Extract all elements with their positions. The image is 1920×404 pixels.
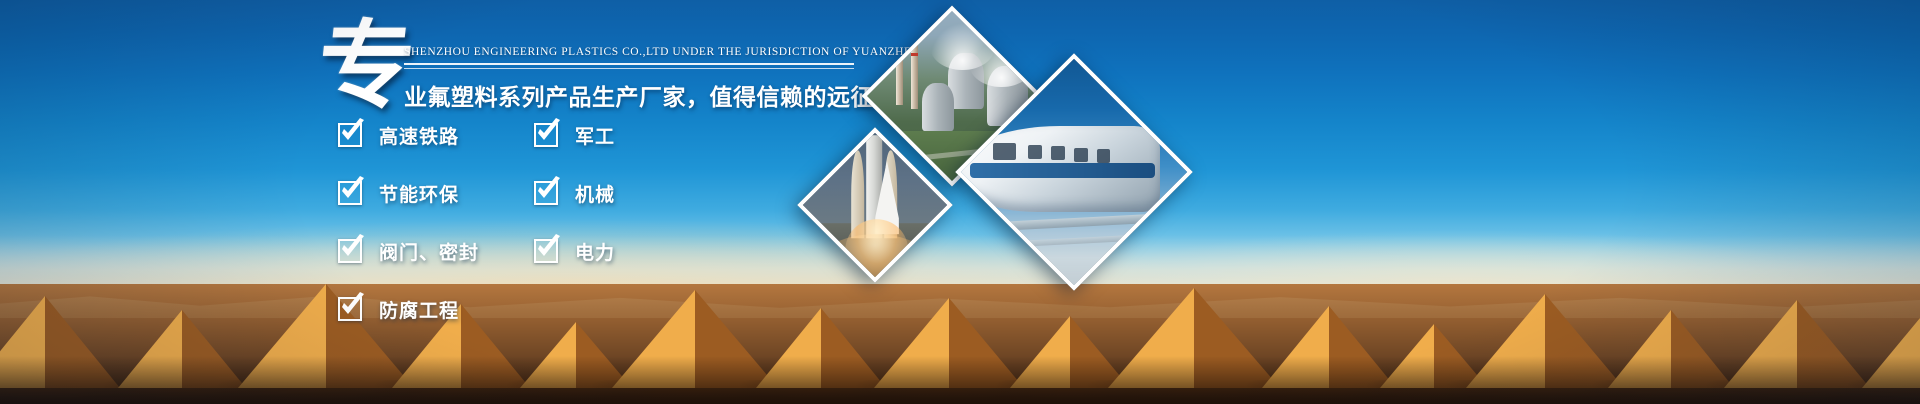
feature-item[interactable]: 阀门、密封	[338, 234, 534, 268]
passenger-window	[1028, 145, 1042, 159]
feature-item[interactable]: 节能环保	[338, 176, 534, 210]
photo-collage	[820, 10, 1240, 300]
passenger-window	[1051, 146, 1065, 160]
check-mark-icon	[337, 233, 367, 263]
divider-rules	[404, 63, 854, 69]
divider-line-thin	[404, 68, 854, 69]
feature-item-label: 阀门、密封	[379, 238, 479, 265]
english-tagline: SHENZHOU ENGINEERING PLASTICS CO.,LTD UN…	[404, 44, 884, 60]
headline-text-group: SHENZHOU ENGINEERING PLASTICS CO.,LTD UN…	[404, 44, 884, 112]
feature-item-label: 机械	[575, 180, 615, 207]
checkbox-checked-icon	[338, 181, 362, 205]
checkbox-checked-icon	[338, 123, 362, 147]
feature-item[interactable]: 军工	[534, 118, 714, 152]
divider-line-thick	[404, 63, 854, 65]
train-stripe	[970, 163, 1154, 177]
feature-item-label: 电力	[575, 238, 615, 265]
checkbox-checked-icon	[534, 123, 558, 147]
cab-window	[993, 143, 1016, 160]
checkbox-checked-icon	[534, 239, 558, 263]
feature-item-label: 高速铁路	[379, 122, 459, 149]
check-mark-icon	[337, 117, 367, 147]
checkbox-checked-icon	[534, 181, 558, 205]
feature-item[interactable]: 机械	[534, 176, 714, 210]
feature-item-label: 军工	[575, 122, 615, 149]
check-mark-icon	[337, 291, 367, 321]
feature-checklist: 高速铁路节能环保阀门、密封防腐工程 军工机械电力	[338, 118, 714, 350]
smoke-plume	[969, 40, 1034, 88]
passenger-window	[1097, 149, 1110, 163]
cooling-tower	[922, 83, 954, 131]
feature-column-right: 军工机械电力	[534, 118, 714, 350]
check-mark-icon	[533, 117, 563, 147]
feature-item[interactable]: 高速铁路	[338, 118, 534, 152]
check-mark-icon	[533, 233, 563, 263]
smoke-stack	[896, 10, 903, 105]
check-mark-icon	[533, 175, 563, 205]
chinese-tagline: 业氟塑料系列产品生产厂家，值得信赖的远征品牌	[404, 78, 884, 112]
motion-blur	[955, 201, 1193, 291]
exhaust-cloud	[820, 234, 930, 282]
feature-item-label: 防腐工程	[379, 296, 459, 323]
headline-block: 专 SHENZHOU ENGINEERING PLASTICS CO.,LTD …	[0, 0, 900, 404]
feature-item[interactable]: 防腐工程	[338, 292, 534, 326]
passenger-window	[1074, 148, 1088, 162]
checkbox-checked-icon	[338, 297, 362, 321]
hero-banner: 专 SHENZHOU ENGINEERING PLASTICS CO.,LTD …	[0, 0, 1920, 404]
feature-item[interactable]: 电力	[534, 234, 714, 268]
feature-column-left: 高速铁路节能环保阀门、密封防腐工程	[338, 118, 534, 350]
feature-item-label: 节能环保	[379, 180, 459, 207]
smoke-stack	[911, 18, 918, 109]
checkbox-checked-icon	[338, 239, 362, 263]
check-mark-icon	[337, 175, 367, 205]
